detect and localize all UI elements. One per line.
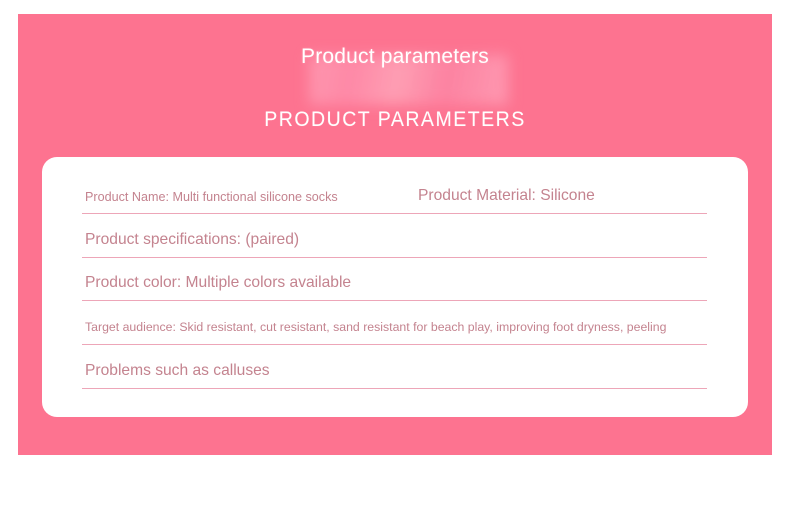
- specification-list: Product Name: Multi functional silicone …: [82, 180, 707, 389]
- table-row: Product Name: Multi functional silicone …: [82, 180, 707, 214]
- product-material-value: Product Material: Silicone: [418, 187, 595, 205]
- banner-title-uppercase: PRODUCT PARAMETERS: [28, 107, 763, 133]
- target-audience-value: Target audience: Skid resistant, cut res…: [85, 320, 666, 334]
- product-specifications-value: Product specifications: (paired): [85, 231, 299, 249]
- banner-title-english: Product parameters: [0, 42, 790, 72]
- problems-value: Problems such as calluses: [85, 362, 270, 380]
- page-root: Product parameters PRODUCT PARAMETERS Pr…: [0, 0, 790, 515]
- table-row: Product specifications: (paired): [82, 214, 707, 258]
- table-row: Problems such as calluses: [82, 345, 707, 389]
- product-color-value: Product color: Multiple colors available: [85, 274, 351, 292]
- table-row: Product color: Multiple colors available: [82, 258, 707, 301]
- specification-card: Product Name: Multi functional silicone …: [42, 157, 748, 417]
- product-name-value: Product Name: Multi functional silicone …: [85, 190, 338, 204]
- table-row: Target audience: Skid resistant, cut res…: [82, 301, 707, 345]
